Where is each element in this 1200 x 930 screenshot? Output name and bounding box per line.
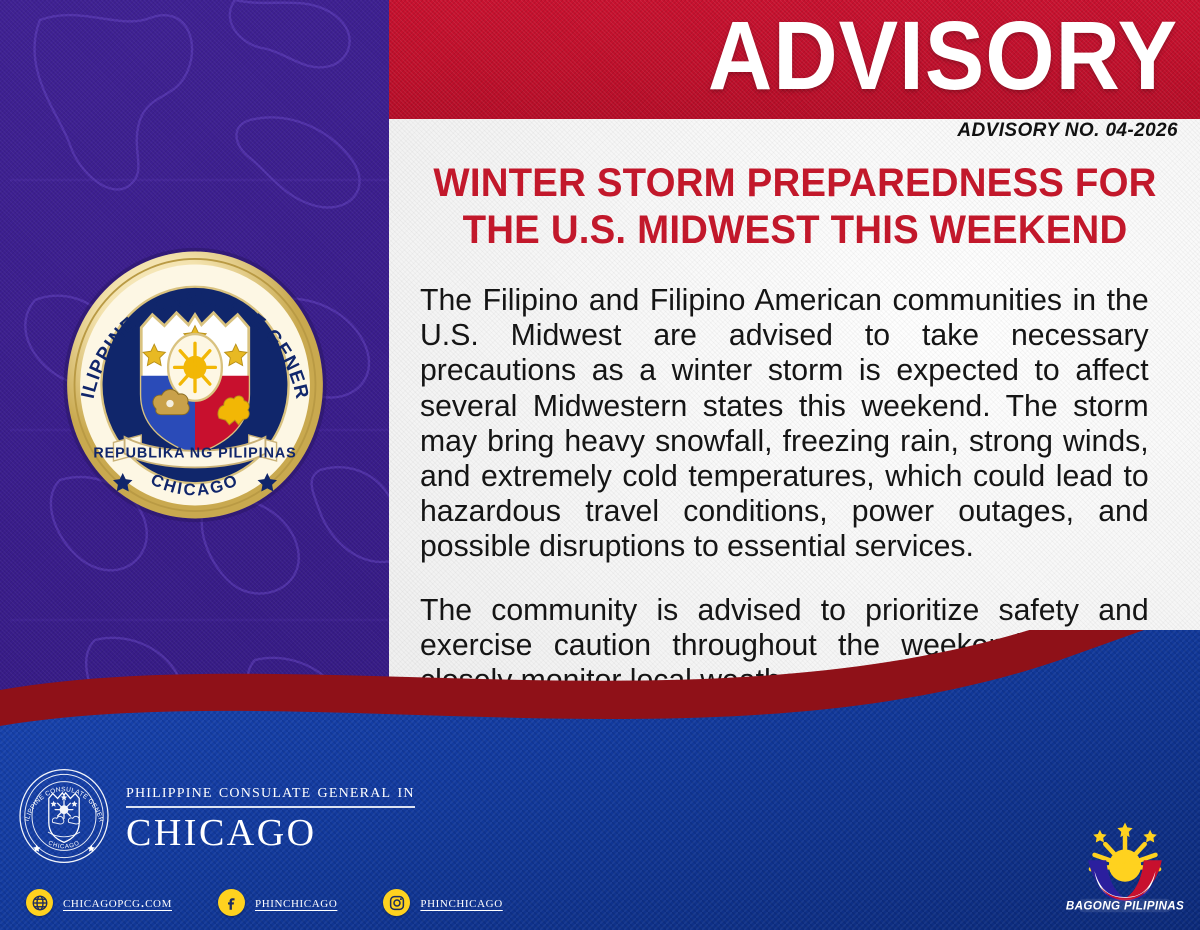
social-link-facebook[interactable]: PHINCHICAGO xyxy=(218,889,337,916)
bagong-pilipinas-logo: BAGONG PILIPINAS xyxy=(1066,810,1184,914)
bagong-pilipinas-caption: BAGONG PILIPINAS xyxy=(1066,900,1184,913)
page-title: ADVISORY xyxy=(708,0,1178,115)
social-label-instagram: PHINCHICAGO xyxy=(420,894,502,912)
headline: WINTER STORM PREPAREDNESS FOR THE U.S. M… xyxy=(416,160,1174,254)
footer-social-links: CHICAGOPCG.COM PHINCHICAGO PHINCHICAGO xyxy=(26,889,503,916)
instagram-icon xyxy=(383,889,410,916)
facebook-icon xyxy=(218,889,245,916)
footer-consulate-seal: PHILIPPINE CONSULATE GENERAL CHICAGO xyxy=(16,768,112,864)
social-label-website: CHICAGOPCG.COM xyxy=(63,894,172,912)
footer-brand-text: Philippine Consulate General in CHICAGO xyxy=(126,781,415,852)
body-paragraph-1: The Filipino and Filipino American commu… xyxy=(420,283,1149,565)
footer-brand: PHILIPPINE CONSULATE GENERAL CHICAGO xyxy=(16,768,415,864)
svg-text:REPUBLIKA NG PILIPINAS: REPUBLIKA NG PILIPINAS xyxy=(93,445,296,461)
footer-brand-line-2: CHICAGO xyxy=(126,814,415,852)
consulate-seal: PHILIPPINE CONSULATE GENERAL CHICAGO xyxy=(56,246,334,524)
headline-line-1: WINTER STORM PREPAREDNESS FOR xyxy=(416,160,1174,207)
advisory-number: ADVISORY NO. 04-2026 xyxy=(957,120,1178,142)
footer-brand-divider xyxy=(126,806,415,808)
footer-brand-line-1: Philippine Consulate General in xyxy=(126,781,415,806)
social-label-facebook: PHINCHICAGO xyxy=(255,894,337,912)
headline-line-2: THE U.S. MIDWEST THIS WEEKEND xyxy=(416,207,1174,254)
globe-icon xyxy=(26,889,53,916)
social-link-website[interactable]: CHICAGOPCG.COM xyxy=(26,889,172,916)
advisory-poster: PHILIPPINE CONSULATE GENERAL CHICAGO xyxy=(0,0,1200,930)
social-link-instagram[interactable]: PHINCHICAGO xyxy=(383,889,502,916)
